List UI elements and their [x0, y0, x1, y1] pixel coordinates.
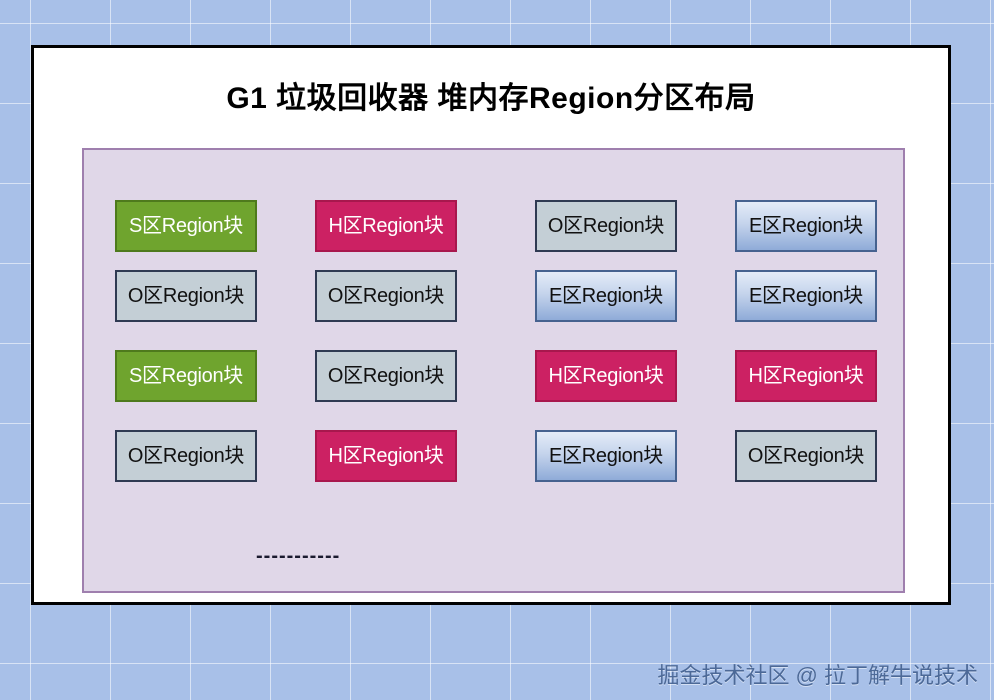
- heap-memory-panel: S区Region块 H区Region块 O区Region块 E区Region块: [82, 148, 905, 593]
- region-block-old[interactable]: O区Region块: [315, 270, 457, 322]
- region-row: O区Region块 H区Region块 E区Region块 O区Region块: [84, 430, 903, 482]
- region-block-survivor[interactable]: S区Region块: [115, 350, 257, 402]
- region-block-label: S区Region块: [129, 366, 243, 386]
- region-row: S区Region块 O区Region块 H区Region块 H区Region块: [84, 350, 903, 402]
- page-title: G1 垃圾回收器 堆内存Region分区布局: [34, 73, 948, 117]
- region-block-old[interactable]: O区Region块: [115, 270, 257, 322]
- region-block-survivor[interactable]: S区Region块: [115, 200, 257, 252]
- region-block-label: H区Region块: [328, 446, 443, 466]
- region-block-label: O区Region块: [748, 446, 864, 466]
- region-row: O区Region块 O区Region块 E区Region块 E区Region块: [84, 270, 903, 322]
- region-block-label: O区Region块: [128, 286, 244, 306]
- page-background: G1 垃圾回收器 堆内存Region分区布局 S区Region块 H区Regio…: [0, 0, 994, 700]
- region-block-eden[interactable]: E区Region块: [735, 200, 877, 252]
- region-block-eden[interactable]: E区Region块: [535, 430, 677, 482]
- region-row: S区Region块 H区Region块 O区Region块 E区Region块: [84, 200, 903, 252]
- region-block-label: O区Region块: [328, 366, 444, 386]
- region-block-label: E区Region块: [749, 286, 863, 306]
- region-block-label: O区Region块: [128, 446, 244, 466]
- region-block-old[interactable]: O区Region块: [315, 350, 457, 402]
- continuation-dashes: -----------: [256, 545, 340, 568]
- region-block-label: O区Region块: [548, 216, 664, 236]
- region-block-humongous[interactable]: H区Region块: [315, 200, 457, 252]
- region-block-humongous[interactable]: H区Region块: [535, 350, 677, 402]
- diagram-card: G1 垃圾回收器 堆内存Region分区布局 S区Region块 H区Regio…: [31, 45, 951, 605]
- region-block-label: E区Region块: [749, 216, 863, 236]
- region-block-label: H区Region块: [328, 216, 443, 236]
- region-block-label: O区Region块: [328, 286, 444, 306]
- region-block-eden[interactable]: E区Region块: [535, 270, 677, 322]
- region-grid: S区Region块 H区Region块 O区Region块 E区Region块: [84, 150, 903, 591]
- region-block-label: H区Region块: [548, 366, 663, 386]
- region-block-label: S区Region块: [129, 216, 243, 236]
- region-block-humongous[interactable]: H区Region块: [315, 430, 457, 482]
- region-block-label: H区Region块: [748, 366, 863, 386]
- region-block-old[interactable]: O区Region块: [535, 200, 677, 252]
- region-block-label: E区Region块: [549, 286, 663, 306]
- region-block-old[interactable]: O区Region块: [735, 430, 877, 482]
- region-block-eden[interactable]: E区Region块: [735, 270, 877, 322]
- watermark-text: 掘金技术社区 @ 拉丁解牛说技术: [657, 658, 978, 690]
- region-block-humongous[interactable]: H区Region块: [735, 350, 877, 402]
- region-block-label: E区Region块: [549, 446, 663, 466]
- region-block-old[interactable]: O区Region块: [115, 430, 257, 482]
